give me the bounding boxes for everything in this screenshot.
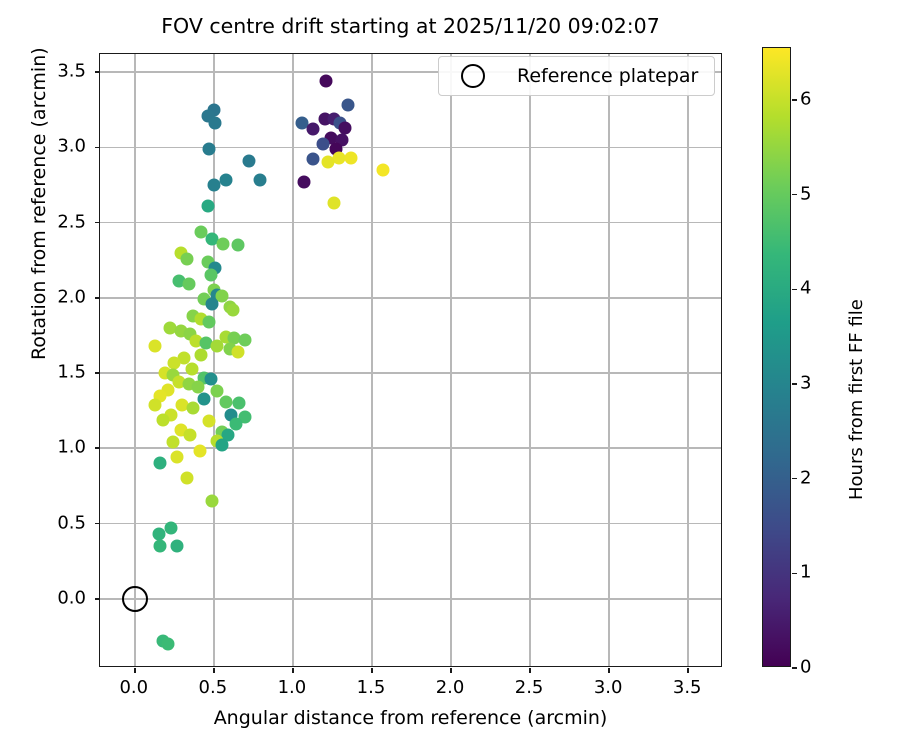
gridline-horizontal-4 (100, 297, 721, 299)
data-point (220, 395, 233, 408)
colorbar-tick-0 (792, 667, 797, 669)
data-point (193, 445, 206, 458)
reference-platepar-marker (122, 586, 148, 612)
x-tick-label-7: 3.5 (673, 677, 702, 698)
data-point (203, 315, 216, 328)
colorbar-tick-3 (792, 383, 797, 385)
data-point (226, 303, 239, 316)
data-point (207, 178, 220, 191)
x-tick-label-4: 2.0 (436, 677, 465, 698)
x-tick-4 (450, 668, 452, 673)
data-point (320, 75, 333, 88)
legend-label-reference-platepar: Reference platepar (517, 65, 698, 87)
data-point (217, 237, 230, 250)
data-point (180, 252, 193, 265)
x-axis-label: Angular distance from reference (arcmin) (99, 707, 722, 729)
colorbar-tick-label-5: 5 (800, 183, 811, 204)
data-point (206, 494, 219, 507)
colorbar-tick-label-2: 2 (800, 467, 811, 488)
data-point (204, 269, 217, 282)
data-point (321, 156, 334, 169)
colorbar-tick-label-4: 4 (800, 278, 811, 299)
x-tick-label-6: 3.0 (594, 677, 623, 698)
colorbar-tick-1 (792, 573, 797, 575)
colorbar-label: Hours from first FF file (846, 299, 867, 500)
colorbar-tick-2 (792, 478, 797, 480)
x-tick-label-2: 1.0 (278, 677, 307, 698)
plot-area (100, 54, 721, 666)
data-point (161, 637, 174, 650)
y-tick-3 (95, 372, 100, 374)
y-tick-label-2: 1.0 (57, 437, 86, 458)
data-point (182, 278, 195, 291)
data-point (152, 528, 165, 541)
x-tick-3 (371, 668, 373, 673)
data-point (239, 333, 252, 346)
x-tick-5 (529, 668, 531, 673)
data-point (157, 413, 170, 426)
y-tick-label-6: 3.0 (57, 136, 86, 157)
figure: FOV centre drift starting at 2025/11/20 … (0, 0, 900, 750)
gridline-horizontal-1 (100, 523, 721, 525)
colorbar-tick-5 (792, 194, 797, 196)
colorbar-tick-4 (792, 289, 797, 291)
data-point (154, 540, 167, 553)
data-point (231, 345, 244, 358)
data-point (149, 398, 162, 411)
y-tick-label-7: 3.5 (57, 61, 86, 82)
data-point (206, 297, 219, 310)
data-point (149, 339, 162, 352)
chart-title: FOV centre drift starting at 2025/11/20 … (99, 14, 722, 38)
x-tick-label-0: 0.0 (119, 677, 148, 698)
y-tick-2 (95, 447, 100, 449)
data-point (231, 239, 244, 252)
data-point (168, 356, 181, 369)
data-point (184, 428, 197, 441)
data-point (328, 196, 341, 209)
data-point (180, 472, 193, 485)
y-tick-1 (95, 523, 100, 525)
data-point (253, 174, 266, 187)
x-tick-2 (292, 668, 294, 673)
x-tick-7 (687, 668, 689, 673)
gridline-horizontal-5 (100, 222, 721, 224)
colorbar-tick-label-6: 6 (800, 89, 811, 110)
colorbar-tick-label-0: 0 (800, 657, 811, 678)
data-point (332, 151, 345, 164)
data-point (342, 99, 355, 112)
gridline-horizontal-6 (100, 147, 721, 149)
colorbar-tick-label-1: 1 (800, 562, 811, 583)
y-tick-6 (95, 147, 100, 149)
x-tick-label-3: 1.5 (357, 677, 386, 698)
data-point (203, 415, 216, 428)
data-point (345, 151, 358, 164)
data-point (316, 138, 329, 151)
colorbar-gradient (763, 48, 790, 666)
y-tick-label-1: 0.5 (57, 512, 86, 533)
data-point (242, 154, 255, 167)
x-tick-0 (134, 668, 136, 673)
data-point (166, 436, 179, 449)
data-point (154, 457, 167, 470)
data-point (203, 142, 216, 155)
x-tick-label-5: 2.5 (515, 677, 544, 698)
y-tick-5 (95, 222, 100, 224)
data-point (187, 401, 200, 414)
data-point (215, 439, 228, 452)
gridline-horizontal-0 (100, 598, 721, 600)
data-point (233, 397, 246, 410)
y-tick-label-5: 2.5 (57, 211, 86, 232)
data-point (211, 339, 224, 352)
data-point (220, 174, 233, 187)
y-axis-label: Rotation from reference (arcmin) (28, 47, 50, 360)
colorbar (762, 47, 791, 667)
legend-reference-marker-icon (461, 64, 485, 88)
colorbar-tick-6 (792, 99, 797, 101)
data-point (209, 117, 222, 130)
data-point (171, 540, 184, 553)
y-tick-label-4: 2.0 (57, 286, 86, 307)
y-tick-7 (95, 71, 100, 73)
colorbar-tick-label-3: 3 (800, 373, 811, 394)
y-tick-label-0: 0.0 (57, 587, 86, 608)
data-point (201, 199, 214, 212)
x-tick-6 (608, 668, 610, 673)
data-point (307, 123, 320, 136)
data-point (377, 163, 390, 176)
data-point (185, 362, 198, 375)
data-point (307, 153, 320, 166)
x-tick-label-1: 0.5 (199, 677, 228, 698)
data-point (198, 392, 211, 405)
x-tick-1 (213, 668, 215, 673)
data-point (192, 380, 205, 393)
data-point (195, 348, 208, 361)
y-tick-4 (95, 297, 100, 299)
data-point (171, 451, 184, 464)
y-tick-0 (95, 598, 100, 600)
data-point (165, 522, 178, 535)
plot-axes (99, 53, 722, 667)
y-tick-label-3: 1.5 (57, 362, 86, 383)
data-point (297, 175, 310, 188)
data-point (204, 373, 217, 386)
legend: Reference platepar (438, 56, 715, 96)
